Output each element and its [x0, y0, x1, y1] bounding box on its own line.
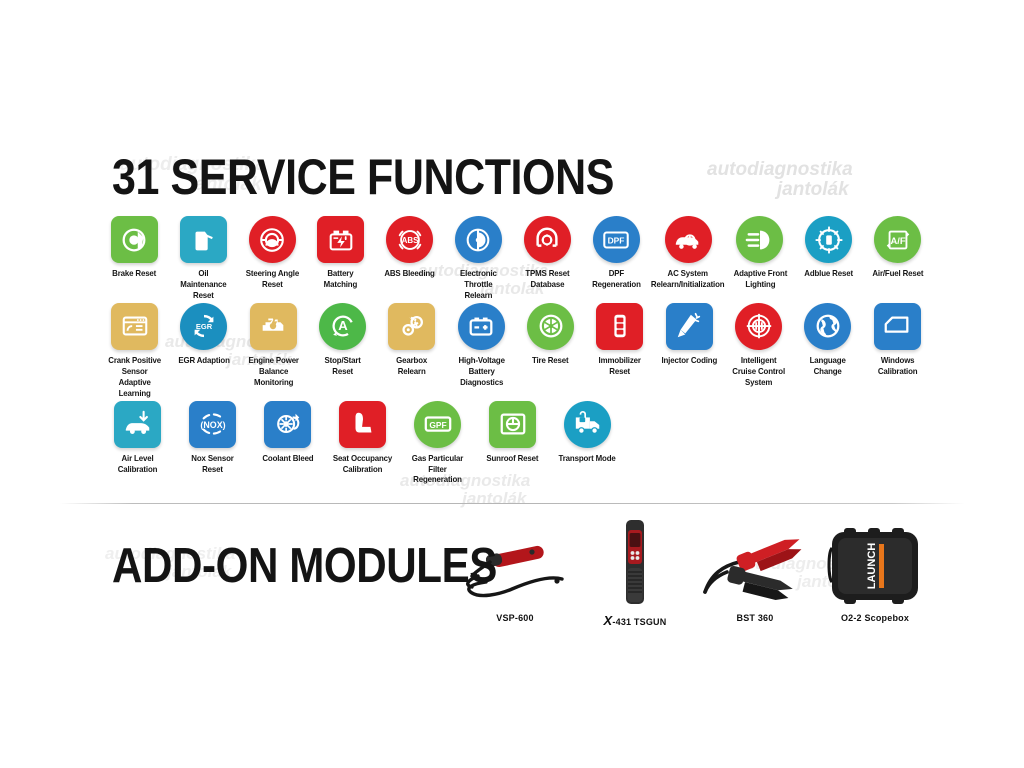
- service-function-label: Windows Calibration: [868, 355, 926, 377]
- battery-icon: [317, 216, 364, 263]
- service-function-label: Oil Maintenance Reset: [174, 268, 232, 301]
- throttle-icon: [455, 216, 502, 263]
- seat-icon: [339, 401, 386, 448]
- section-divider: [60, 503, 965, 504]
- abs-icon: ABS: [386, 216, 433, 263]
- gearbox-icon: [388, 303, 435, 350]
- service-function-item[interactable]: Sunroof Reset: [479, 401, 546, 486]
- tsgun-icon: [618, 518, 652, 606]
- service-function-label: EGR Adaption: [178, 355, 229, 366]
- nox-icon: (NOX): [189, 401, 236, 448]
- service-function-item[interactable]: Adaptive Front Lighting: [730, 216, 791, 301]
- service-function-item[interactable]: Crank Positive Sensor Adaptive Learning: [104, 303, 165, 399]
- service-function-item[interactable]: Language Change: [797, 303, 858, 399]
- service-function-item[interactable]: Electronic Throttle Relearn: [448, 216, 509, 301]
- service-function-label: Gearbox Relearn: [383, 355, 441, 377]
- gpf-icon: GPF: [414, 401, 461, 448]
- addon-module-label: VSP-600: [496, 613, 533, 623]
- service-function-label: Steering Angle Reset: [243, 268, 301, 290]
- addon-module-label: O2-2 Scopebox: [841, 613, 909, 623]
- service-function-item[interactable]: Coolant Bleed: [254, 401, 321, 486]
- service-function-label: Nox Sensor Reset: [181, 453, 245, 475]
- air-suspension-icon: [114, 401, 161, 448]
- service-function-label: Brake Reset: [112, 268, 156, 279]
- service-functions-grid: Brake ResetOil Maintenance ResetSteering…: [104, 216, 928, 485]
- service-row: Brake ResetOil Maintenance ResetSteering…: [104, 216, 928, 301]
- immobilizer-key-icon: [596, 303, 643, 350]
- svg-text:DPF: DPF: [608, 235, 625, 245]
- service-function-item[interactable]: ABSABS Bleeding: [379, 216, 440, 301]
- service-function-label: Coolant Bleed: [262, 453, 313, 464]
- service-function-label: Crank Positive Sensor Adaptive Learning: [106, 355, 164, 399]
- service-function-item[interactable]: Seat Occupancy Calibration: [329, 401, 396, 486]
- battery-clamps-icon: [699, 518, 811, 606]
- oil-can-icon: [180, 216, 227, 263]
- svg-text:GPF: GPF: [429, 420, 446, 430]
- addon-module-label: BST 360: [737, 613, 774, 623]
- service-function-label: Immobilizer Reset: [591, 355, 649, 377]
- service-function-item[interactable]: Immobilizer Reset: [589, 303, 650, 399]
- engine-power-icon: [250, 303, 297, 350]
- service-function-item[interactable]: Air Level Calibration: [104, 401, 171, 486]
- brake-disc-icon: [111, 216, 158, 263]
- adblue-icon: [805, 216, 852, 263]
- dpf-icon: DPF: [593, 216, 640, 263]
- svg-text:ABS: ABS: [401, 235, 418, 244]
- service-function-label: Sunroof Reset: [486, 453, 538, 464]
- service-function-label: Injector Coding: [661, 355, 717, 366]
- service-function-label: Adblue Reset: [804, 268, 853, 279]
- svg-text:A/F: A/F: [890, 235, 905, 245]
- egr-icon: EGR: [180, 303, 227, 350]
- addon-module-label-text: -431 TSGUN: [612, 617, 666, 627]
- steering-angle-icon: [249, 216, 296, 263]
- addon-module-item[interactable]: LAUNCHO2-2 Scopebox: [815, 518, 935, 628]
- ac-system-icon: [665, 216, 712, 263]
- service-function-item[interactable]: (NOX)Nox Sensor Reset: [179, 401, 246, 486]
- service-function-item[interactable]: AC System Relearn/Initialization: [655, 216, 722, 301]
- tpms-icon: [524, 216, 571, 263]
- service-function-item[interactable]: Windows Calibration: [867, 303, 928, 399]
- service-function-item[interactable]: High-Voltage Battery Diagnostics: [451, 303, 512, 399]
- addon-module-item[interactable]: BST 360: [695, 518, 815, 628]
- coolant-pump-icon: [264, 401, 311, 448]
- service-function-label: Tire Reset: [532, 355, 569, 366]
- cruise-radar-icon: [735, 303, 782, 350]
- service-function-label: Battery Matching: [312, 268, 370, 290]
- service-function-label: TPMS Reset Database: [518, 268, 576, 290]
- watermark: autodiagnostikajantolák: [707, 160, 853, 200]
- modules-title: ADD-ON MODULES: [112, 538, 497, 594]
- service-function-item[interactable]: Brake Reset: [104, 216, 165, 301]
- addon-module-label: X-431 TSGUN: [604, 613, 667, 628]
- poster-canvas: autodiagnostikajantolák autodiagnostikaj…: [0, 0, 1024, 768]
- svg-text:A: A: [338, 319, 348, 334]
- headlight-icon: [736, 216, 783, 263]
- service-function-label: Stop/Start Reset: [314, 355, 372, 377]
- service-function-item[interactable]: Gearbox Relearn: [381, 303, 442, 399]
- service-function-item[interactable]: Engine Power Balance Monitoring: [243, 303, 304, 399]
- service-function-item[interactable]: Battery Matching: [310, 216, 371, 301]
- service-function-item[interactable]: A/FAir/Fuel Reset: [867, 216, 928, 301]
- services-title: 31 SERVICE FUNCTIONS: [112, 148, 614, 206]
- stop-start-icon: A: [319, 303, 366, 350]
- scopebox-icon: LAUNCH: [827, 518, 923, 606]
- addon-module-item[interactable]: X-431 TSGUN: [575, 518, 695, 628]
- service-function-label: Air Level Calibration: [106, 453, 170, 475]
- service-function-item[interactable]: EGREGR Adaption: [173, 303, 234, 399]
- service-function-item[interactable]: Intelligent Cruise Control System: [728, 303, 789, 399]
- service-row: Air Level Calibration(NOX)Nox Sensor Res…: [104, 401, 928, 486]
- injector-icon: [666, 303, 713, 350]
- service-function-label: Gas Particular Filter Regeneration: [406, 453, 470, 486]
- tire-icon: [527, 303, 574, 350]
- service-function-item[interactable]: Injector Coding: [659, 303, 720, 399]
- svg-text:LAUNCH: LAUNCH: [866, 543, 878, 589]
- service-function-item[interactable]: Oil Maintenance Reset: [173, 216, 234, 301]
- service-function-item[interactable]: DPFDPF Regeneration: [586, 216, 647, 301]
- service-function-item[interactable]: Transport Mode: [554, 401, 621, 486]
- car-window-icon: [874, 303, 921, 350]
- service-function-item[interactable]: GPFGas Particular Filter Regeneration: [404, 401, 471, 486]
- sunroof-icon: [489, 401, 536, 448]
- hv-battery-icon: [458, 303, 505, 350]
- service-function-label: High-Voltage Battery Diagnostics: [452, 355, 510, 388]
- globe-icon: [804, 303, 851, 350]
- air-fuel-icon: A/F: [874, 216, 921, 263]
- service-function-label: Seat Occupancy Calibration: [331, 453, 395, 475]
- service-function-item[interactable]: AStop/Start Reset: [312, 303, 373, 399]
- svg-text:(NOX): (NOX): [200, 420, 225, 430]
- svg-text:EGR: EGR: [196, 322, 213, 331]
- service-function-label: AC System Relearn/Initialization: [651, 268, 725, 290]
- truck-icon: [564, 401, 611, 448]
- service-function-item[interactable]: Steering Angle Reset: [242, 216, 303, 301]
- service-function-label: DPF Regeneration: [587, 268, 645, 290]
- service-row: Crank Positive Sensor Adaptive LearningE…: [104, 303, 928, 399]
- service-function-label: Intelligent Cruise Control System: [729, 355, 787, 388]
- service-function-item[interactable]: Tire Reset: [520, 303, 581, 399]
- service-function-label: Engine Power Balance Monitoring: [244, 355, 302, 388]
- service-function-item[interactable]: Adblue Reset: [798, 216, 859, 301]
- addon-modules-list: VSP-600X-431 TSGUNBST 360LAUNCHO2-2 Scop…: [455, 518, 935, 628]
- service-function-label: Transport Mode: [559, 453, 616, 464]
- service-function-label: Electronic Throttle Relearn: [450, 268, 508, 301]
- service-function-label: ABS Bleeding: [384, 268, 434, 279]
- service-function-label: Adaptive Front Lighting: [731, 268, 789, 290]
- service-function-item[interactable]: TPMS Reset Database: [517, 216, 578, 301]
- crank-sensor-icon: [111, 303, 158, 350]
- service-function-label: Language Change: [799, 355, 857, 377]
- service-function-label: Air/Fuel Reset: [872, 268, 923, 279]
